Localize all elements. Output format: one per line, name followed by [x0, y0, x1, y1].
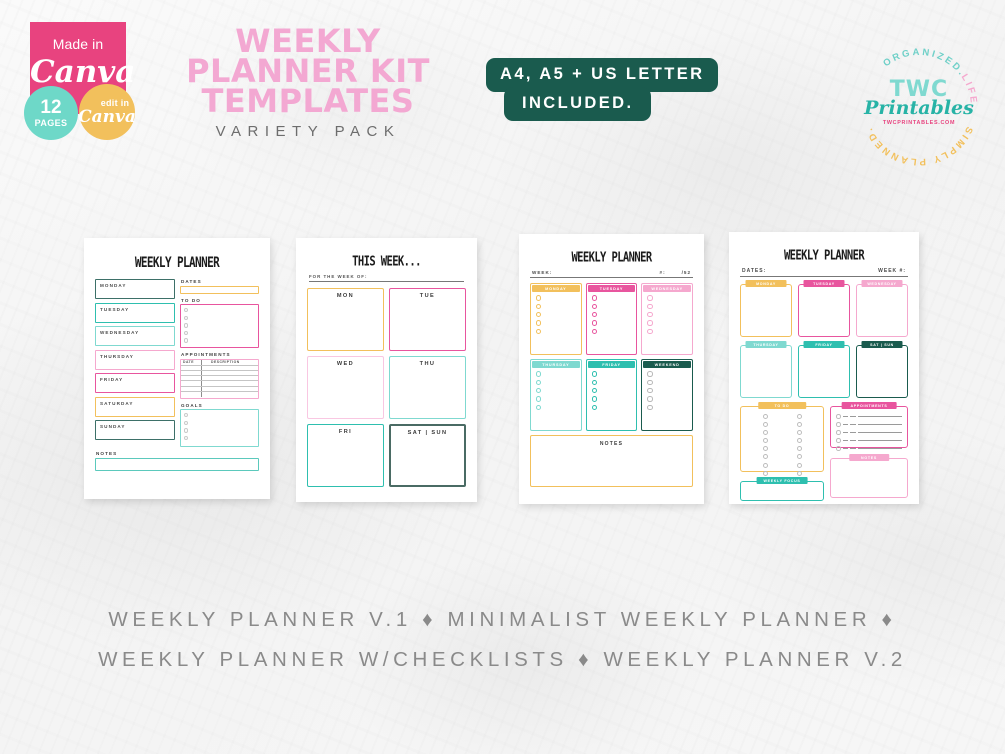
- cell-tue[interactable]: TUE: [389, 288, 466, 351]
- todo-box[interactable]: TO DO: [740, 406, 824, 472]
- checkbox-circle[interactable]: [184, 323, 188, 327]
- checkbox-circle[interactable]: [536, 304, 541, 309]
- tab-tuesday: TUESDAY: [804, 280, 845, 287]
- planner-4-title: WEEKLY PLANNER: [740, 248, 908, 263]
- dates-field[interactable]: [180, 286, 259, 294]
- page-count-badge: 12 PAGES: [24, 86, 78, 140]
- checkbox-circle[interactable]: [536, 329, 541, 334]
- checkbox-circle[interactable]: [763, 430, 768, 435]
- checkbox-circle[interactable]: [184, 331, 188, 335]
- checkbox-circle[interactable]: [592, 320, 597, 325]
- label-appointments: APPOINTMENTS: [181, 352, 259, 357]
- tab-wednesday: WEDNESDAY: [862, 280, 903, 287]
- checkbox-circle[interactable]: [797, 463, 802, 468]
- notes-box[interactable]: NOTES: [530, 435, 693, 487]
- table-row[interactable]: [181, 392, 258, 397]
- label-week-total: /52: [682, 270, 691, 275]
- label-todo: TO DO: [181, 298, 259, 303]
- tab-weekly-focus: WEEKLY FOCUS: [757, 477, 808, 484]
- checkbox-circle[interactable]: [797, 471, 802, 476]
- checkbox-circle[interactable]: [536, 388, 541, 393]
- checkbox-circle[interactable]: [647, 396, 652, 401]
- checkbox-circle[interactable]: [647, 405, 652, 410]
- poster-title-block: WEEKLY PLANNER KIT TEMPLATES VARIETY PAC…: [178, 26, 438, 140]
- checkbox-circle[interactable]: [536, 396, 541, 401]
- dates-week-row: DATES: WEEK #:: [740, 268, 908, 277]
- checkbox-circle[interactable]: [592, 312, 597, 317]
- checkbox-circle[interactable]: [536, 371, 541, 376]
- checkbox-circle[interactable]: [536, 295, 541, 300]
- svg-text:SIMPLY PLANNED.: SIMPLY PLANNED.: [863, 124, 975, 167]
- checkbox-circle[interactable]: [536, 380, 541, 385]
- todo-column-left[interactable]: [748, 414, 782, 471]
- planner-1-title: WEEKLY PLANNER: [95, 254, 259, 271]
- poster-subtitle: VARIETY PACK: [178, 123, 438, 140]
- checkbox-circle[interactable]: [797, 414, 802, 419]
- checkbox-circle[interactable]: [763, 471, 768, 476]
- checkbox-circle[interactable]: [184, 413, 188, 417]
- svg-text:ORGANIZED.: ORGANIZED.: [881, 47, 968, 79]
- cell-thu[interactable]: THU: [389, 356, 466, 419]
- col-monday[interactable]: MONDAY: [530, 283, 582, 355]
- title-line-3: TEMPLATES: [178, 86, 438, 116]
- twc-printables-logo: ORGANIZED. LIFE. SIMPLY PLANNED. TWC Pri…: [856, 44, 982, 170]
- planner-card-1[interactable]: WEEKLY PLANNER MONDAY TUESDAY WEDNESDAY …: [84, 238, 270, 499]
- label-week: WEEK:: [532, 270, 552, 275]
- page-count-number: 12: [40, 98, 61, 117]
- checkbox-circle[interactable]: [647, 312, 652, 317]
- formats-line-2: INCLUDED.: [504, 87, 651, 121]
- checkbox-circle[interactable]: [797, 438, 802, 443]
- logo-url: TWCPRINTABLES.COM: [856, 120, 982, 126]
- checkbox-circle[interactable]: [763, 422, 768, 427]
- checkbox-circle[interactable]: [592, 329, 597, 334]
- cell-fri[interactable]: FRI: [307, 424, 384, 487]
- day-box-saturday[interactable]: SATURDAY: [95, 397, 175, 417]
- checkbox-circle[interactable]: [647, 320, 652, 325]
- made-in-label: Made in: [30, 36, 126, 52]
- planner-1-day-column: MONDAY TUESDAY WEDNESDAY THURSDAY FRIDAY…: [95, 279, 175, 447]
- label-dates: DATES:: [742, 268, 766, 274]
- label-dates: DATES: [181, 279, 259, 284]
- logo-brand-bottom: Printables: [856, 98, 982, 118]
- day-box-friday[interactable]: FRIDAY: [95, 373, 175, 393]
- todo-box[interactable]: [180, 304, 259, 348]
- checkbox-circle[interactable]: [592, 295, 597, 300]
- col-thursday[interactable]: THURSDAY: [530, 359, 582, 431]
- tab-thursday: THURSDAY: [746, 341, 787, 348]
- checkbox-circle[interactable]: [536, 320, 541, 325]
- col-label-tuesday: TUESDAY: [588, 285, 636, 292]
- day-box-wednesday[interactable]: WEDNESDAY: [95, 326, 175, 346]
- planner-card-3[interactable]: WEEKLY PLANNER WEEK: #: /52 MONDAY TUESD…: [519, 234, 704, 504]
- label-week-of: FOR THE WEEK OF:: [309, 274, 464, 282]
- checkbox-circle[interactable]: [763, 463, 768, 468]
- checkbox-circle[interactable]: [592, 380, 597, 385]
- col-weekend[interactable]: WEEKEND: [641, 359, 693, 431]
- col-wednesday[interactable]: WEDNESDAY: [641, 283, 693, 355]
- checkbox-circle[interactable]: [763, 454, 768, 459]
- appointment-row[interactable]: [836, 422, 902, 427]
- checkbox-circle[interactable]: [763, 438, 768, 443]
- tab-notes: NOTES: [849, 454, 889, 461]
- col-label-wednesday: WEDNESDAY: [643, 285, 691, 292]
- tab-appointments: APPOINTMENTS: [842, 402, 897, 409]
- appointment-row[interactable]: [836, 414, 902, 419]
- checkbox-circle[interactable]: [184, 421, 188, 425]
- formats-included-banner: A4, A5 + US LETTER INCLUDED.: [486, 58, 756, 121]
- planner-2-title: THIS WEEK...: [307, 254, 466, 269]
- tab-todo: TO DO: [758, 402, 806, 409]
- checkbox-circle[interactable]: [647, 329, 652, 334]
- checkbox-circle[interactable]: [184, 436, 188, 440]
- checkbox-circle[interactable]: [763, 414, 768, 419]
- col-label-thursday: THURSDAY: [532, 361, 580, 368]
- appointments-table[interactable]: DATE DESCRIPTION: [180, 359, 259, 399]
- checkbox-circle[interactable]: [592, 371, 597, 376]
- checkbox-circle[interactable]: [184, 338, 188, 342]
- cell-wed[interactable]: WED: [307, 356, 384, 419]
- checkbox-circle[interactable]: [592, 304, 597, 309]
- notes-field[interactable]: [95, 458, 259, 471]
- edit-in-canva-badge: edit in Canva: [79, 84, 135, 140]
- checkbox-circle[interactable]: [647, 371, 652, 376]
- label-week-number: WEEK #:: [878, 268, 906, 274]
- daybox-thursday[interactable]: THURSDAY: [740, 345, 792, 398]
- checkbox-circle[interactable]: [536, 405, 541, 410]
- col-label-monday: MONDAY: [532, 285, 580, 292]
- col-tuesday[interactable]: TUESDAY: [586, 283, 638, 355]
- checkbox-circle[interactable]: [592, 388, 597, 393]
- day-box-monday[interactable]: MONDAY: [95, 279, 175, 299]
- col-label-friday: FRIDAY: [588, 361, 636, 368]
- checkbox-circle[interactable]: [184, 308, 188, 312]
- col-friday[interactable]: FRIDAY: [586, 359, 638, 431]
- label-week-number: #:: [660, 270, 666, 275]
- appointment-row[interactable]: [836, 430, 902, 435]
- product-list-footer: WEEKLY PLANNER V.1 ♦ MINIMALIST WEEKLY P…: [0, 600, 1005, 680]
- label-notes: NOTES: [96, 451, 259, 456]
- tab-friday: FRIDAY: [804, 341, 845, 348]
- todo-column-right[interactable]: [782, 414, 816, 471]
- week-meta-row: WEEK: #: /52: [530, 270, 693, 278]
- footer-line-1: WEEKLY PLANNER V.1 ♦ MINIMALIST WEEKLY P…: [0, 600, 1005, 640]
- edit-canva-wordmark: Canva: [78, 109, 136, 126]
- appointment-row[interactable]: [836, 438, 902, 443]
- checkbox-circle[interactable]: [184, 428, 188, 432]
- appointment-row[interactable]: [836, 446, 902, 451]
- footer-line-2: WEEKLY PLANNER W/CHECKLISTS ♦ WEEKLY PLA…: [0, 640, 1005, 680]
- day-box-sunday[interactable]: SUNDAY: [95, 420, 175, 440]
- daybox-wednesday[interactable]: WEDNESDAY: [856, 284, 908, 337]
- planner-card-2[interactable]: THIS WEEK... FOR THE WEEK OF: MON TUE WE…: [296, 238, 477, 502]
- planner-previews: WEEKLY PLANNER MONDAY TUESDAY WEDNESDAY …: [0, 232, 1005, 507]
- checkbox-circle[interactable]: [797, 454, 802, 459]
- day-box-thursday[interactable]: THURSDAY: [95, 350, 175, 370]
- planner-3-title: WEEKLY PLANNER: [530, 250, 693, 265]
- col-description: DESCRIPTION: [211, 360, 240, 364]
- checkbox-circle[interactable]: [797, 422, 802, 427]
- checkbox-circle[interactable]: [763, 446, 768, 451]
- goals-box[interactable]: [180, 409, 259, 447]
- day-box-tuesday[interactable]: TUESDAY: [95, 303, 175, 323]
- daybox-sat-sun[interactable]: SAT | SUN: [856, 345, 908, 398]
- page-count-label: PAGES: [35, 119, 68, 128]
- notes-box[interactable]: NOTES: [830, 458, 908, 498]
- checkbox-circle[interactable]: [647, 380, 652, 385]
- daybox-friday[interactable]: FRIDAY: [798, 345, 850, 398]
- cell-sat-sun[interactable]: SAT | SUN: [389, 424, 466, 487]
- label-goals: GOALS: [181, 403, 259, 408]
- weekly-focus-box[interactable]: WEEKLY FOCUS: [740, 481, 824, 501]
- checkbox-circle[interactable]: [592, 396, 597, 401]
- checkbox-circle[interactable]: [647, 295, 652, 300]
- checkbox-circle[interactable]: [647, 388, 652, 393]
- daybox-monday[interactable]: MONDAY: [740, 284, 792, 337]
- col-date: DATE: [183, 360, 194, 364]
- tab-monday: MONDAY: [746, 280, 787, 287]
- cell-mon[interactable]: MON: [307, 288, 384, 351]
- appointments-box[interactable]: APPOINTMENTS: [830, 406, 908, 448]
- checkbox-circle[interactable]: [592, 405, 597, 410]
- col-label-weekend: WEEKEND: [643, 361, 691, 368]
- checkbox-circle[interactable]: [797, 446, 802, 451]
- tab-sat-sun: SAT | SUN: [862, 341, 903, 348]
- planner-card-4[interactable]: WEEKLY PLANNER DATES: WEEK #: MONDAY TUE…: [729, 232, 919, 504]
- checkbox-circle[interactable]: [647, 304, 652, 309]
- checkbox-circle[interactable]: [536, 312, 541, 317]
- checkbox-circle[interactable]: [184, 316, 188, 320]
- checkbox-circle[interactable]: [797, 430, 802, 435]
- daybox-tuesday[interactable]: TUESDAY: [798, 284, 850, 337]
